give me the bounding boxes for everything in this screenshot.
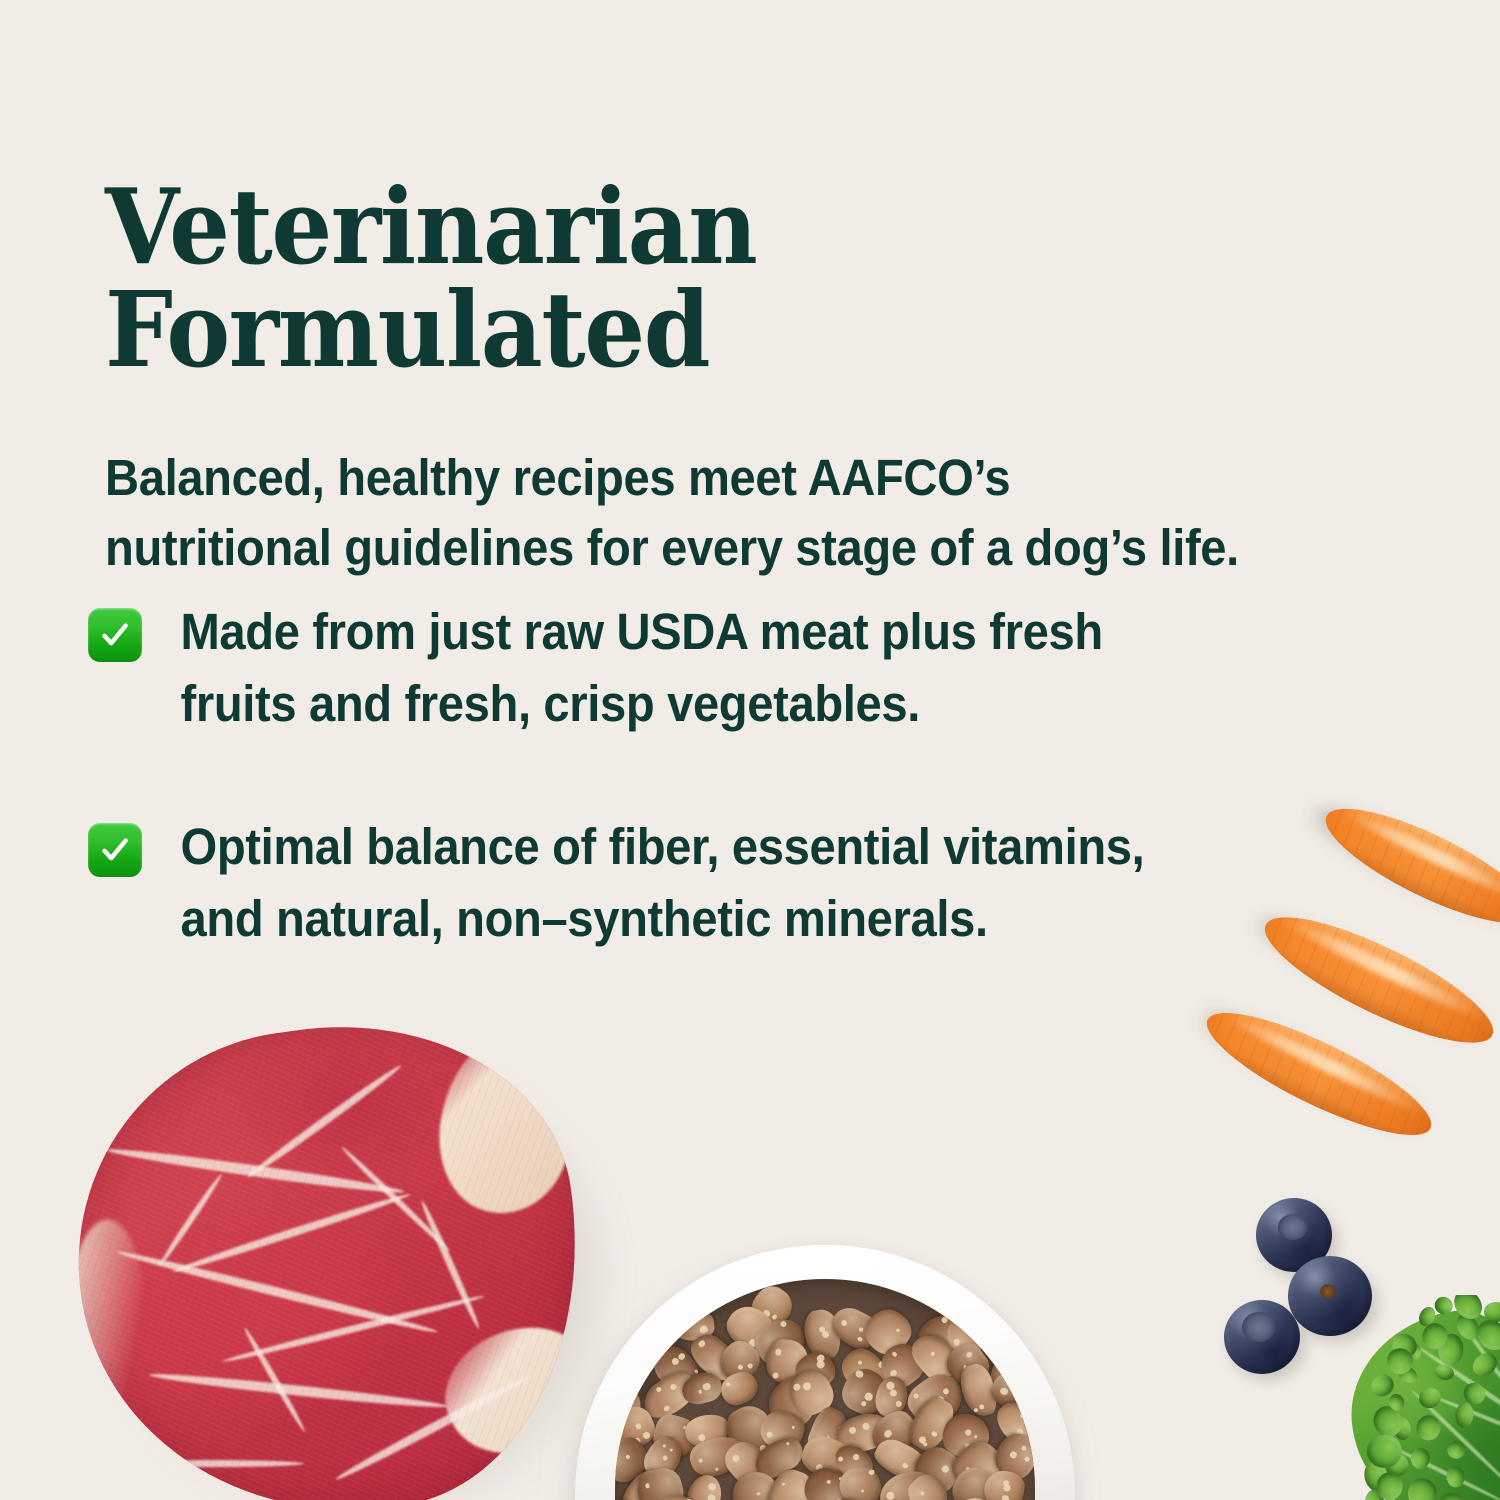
kibble-speck [663,1404,671,1412]
kibble-speck [974,1434,978,1438]
kibble-speck [930,1430,938,1438]
kibble-speck [625,1454,631,1460]
kibble-speck [978,1403,985,1410]
list-item-line-1: Made from just raw USDA meat plus fresh [181,596,1365,668]
kibble-speck [859,1328,864,1333]
kibble-speck [863,1392,873,1402]
page-title-line-1: Veterinarian [105,176,970,279]
kibble-speck [1002,1495,1009,1500]
kibble-speck [848,1426,857,1435]
kibble-speck [616,1392,624,1400]
kibble-speck [792,1382,802,1392]
kibble-speck [702,1382,711,1391]
kibble-piece [615,1337,643,1389]
kibble-speck [886,1491,896,1500]
kibble-speck [621,1351,629,1359]
kibble-speck [822,1331,830,1339]
list-item: Optimal balance of fiber, essential vita… [88,811,1468,956]
kibble-speck [857,1336,863,1342]
kibble-speck [920,1491,926,1497]
kibble-speck [714,1468,718,1472]
steak-muscle-grain [49,996,612,1500]
kibble-speck [838,1456,845,1463]
kibble-speck [624,1343,632,1351]
raw-steak-photo [60,1010,620,1500]
kibble-speck [1007,1379,1017,1389]
kibble-speck [698,1389,702,1393]
kibble-speck [668,1447,673,1452]
kibble-speck [775,1348,782,1355]
kibble-speck [1020,1413,1025,1418]
kibble-speck [791,1426,795,1430]
kibble-speck [642,1431,651,1440]
kibble-speck [661,1454,668,1461]
list-item-line-1: Optimal balance of fiber, essential vita… [181,811,1365,883]
subheading-line-1: Balanced, healthy recipes meet AAFCO’s [105,443,1363,513]
kibble-speck [901,1463,908,1470]
kibble-speck [973,1407,978,1412]
kibble-speck [725,1383,730,1388]
kibble-speck [826,1479,831,1484]
kibble-speck [964,1428,971,1435]
kibble-speck [883,1428,893,1438]
kibble-speck [857,1360,862,1365]
kibble-speck [913,1392,920,1399]
steak-body [49,996,612,1500]
kibble-speck [782,1483,786,1487]
kibble-speck [895,1400,902,1407]
list-item-line-2: and natural, non–synthetic minerals. [181,883,1365,955]
kibble-bowl-photo [575,1245,1095,1500]
kibble-speck [698,1458,703,1463]
list-item-line-2: fruits and fresh, crisp vegetables. [181,668,1365,740]
kibble-speck [868,1469,875,1476]
kibble-speck [860,1400,867,1407]
kibble-speck [1010,1352,1016,1358]
kibble-piece [682,1471,724,1500]
kibble-speck [655,1386,662,1393]
kibble-speck [854,1369,864,1379]
kibble-speck [661,1443,666,1448]
kibble-speck [853,1454,860,1461]
kibble-speck [941,1386,951,1396]
page-title: Veterinarian Formulated [105,176,970,382]
kibble-speck [966,1351,974,1359]
kale-leaf-photo [1340,1295,1500,1500]
kibble-speck [940,1464,949,1473]
kibble-speck [941,1316,949,1324]
kibble-speck [1024,1456,1030,1462]
kibble-speck [700,1325,709,1334]
kibble-speck [645,1483,651,1489]
kibble-speck [1021,1445,1027,1451]
list-item-label: Optimal balance of fiber, essential vita… [88,811,1365,956]
kibble-speck [841,1319,849,1327]
kibble-speck [731,1453,741,1463]
kale-ruffle [1484,1302,1500,1322]
kibble-speck [779,1320,788,1329]
kibble-speck [772,1372,778,1378]
kibble-speck [765,1431,773,1439]
list-item-label: Made from just raw USDA meat plus fresh … [88,596,1365,741]
kibble-speck [1000,1386,1010,1396]
product-feature-panel: Veterinarian Formulated Balanced, health… [0,0,1500,1500]
kibble-speck [747,1363,753,1369]
kibble-speck [891,1351,897,1357]
kibble-speck [786,1441,790,1445]
kibble-speck [862,1422,870,1430]
kibble-speck [692,1313,699,1320]
subheading-line-2: nutritional guidelines for every stage o… [105,513,1363,583]
white-bowl [575,1245,1075,1500]
kibble-speck [697,1339,706,1348]
kibble-speck [890,1389,899,1398]
kibble-speck [1009,1450,1019,1460]
page-title-line-2: Formulated [105,279,970,382]
kibble-speck [802,1380,812,1390]
kibble-speck [861,1489,865,1493]
subheading: Balanced, healthy recipes meet AAFCO’s n… [105,443,1363,584]
benefit-list: Made from just raw USDA meat plus fresh … [88,596,1468,1026]
kibble-speck [669,1383,677,1391]
kibble-speck [896,1327,901,1332]
list-item: Made from just raw USDA meat plus fresh … [88,596,1468,741]
kibble-speck [707,1493,716,1500]
kibble-speck [930,1351,935,1356]
kibble-speck [707,1482,716,1491]
kibble-speck [635,1423,642,1430]
blueberry-3 [1224,1300,1300,1374]
kibble-speck [756,1492,760,1496]
